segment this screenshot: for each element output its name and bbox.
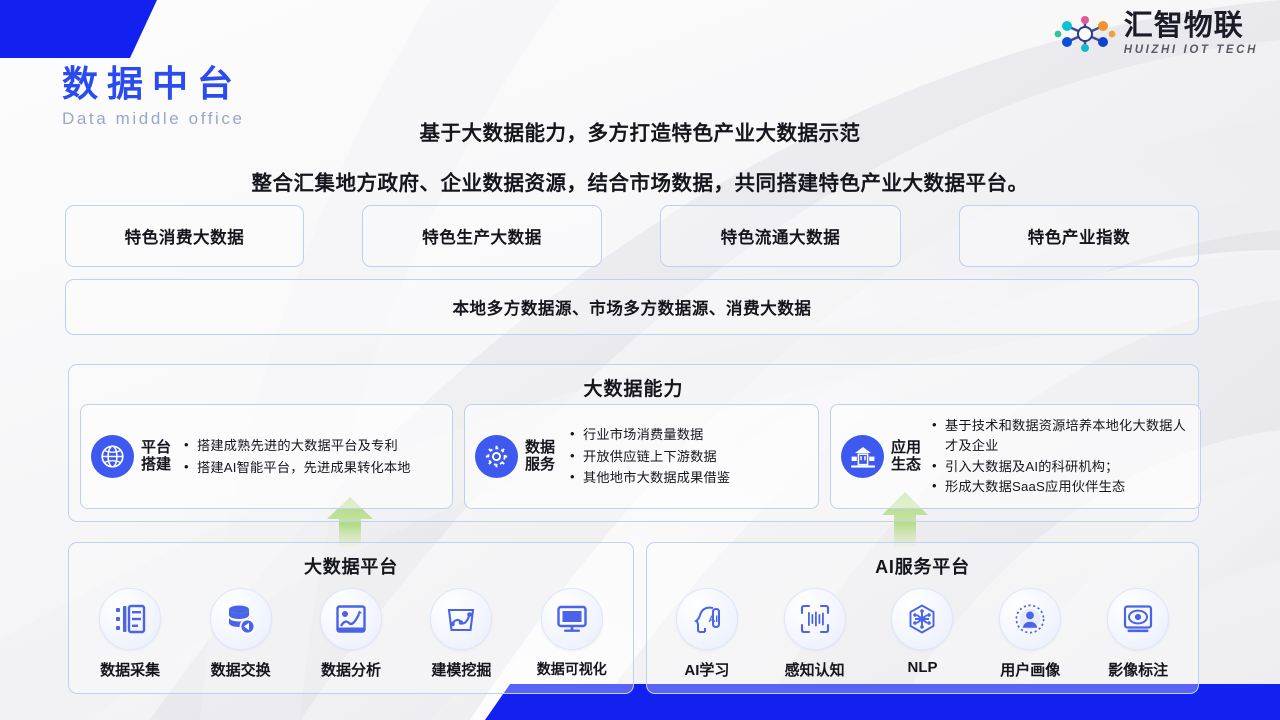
platform-item-ai-learning[interactable]: AI AI学习: [656, 588, 758, 680]
model-mining-icon: [445, 603, 477, 635]
capability-bullet-list: 搭建成熟先进的大数据平台及专利 搭建AI智能平台，先进成果转化本地: [179, 435, 411, 478]
platform-item-nlp[interactable]: NLP: [871, 588, 973, 680]
platform-item-row: 数据采集 数据交换: [69, 588, 633, 680]
data-collection-icon-wrap: [99, 588, 161, 650]
platform-item-label: 数据交换: [211, 659, 271, 680]
category-box-industry-index[interactable]: 特色产业指数: [959, 205, 1199, 267]
capability-bullet: 形成大数据SaaS应用伙伴生态: [945, 477, 1194, 497]
category-box-production[interactable]: 特色生产大数据: [362, 205, 602, 267]
headline-secondary: 整合汇集地方政府、企业数据资源，结合市场数据，共同搭建特色产业大数据平台。: [0, 166, 1280, 196]
scan-perception-icon: [799, 603, 831, 635]
brand-logo: 汇智物联 HUIZHI IOT TECH: [1054, 12, 1258, 57]
platform-item-label: 用户画像: [1000, 659, 1060, 680]
ai-head-icon-wrap: AI: [676, 588, 738, 650]
data-source-bar: 本地多方数据源、市场多方数据源、消费大数据: [65, 279, 1199, 335]
top-left-accent-shape: [0, 0, 170, 58]
slide-root: 汇智物联 HUIZHI IOT TECH 数据中台 Data middle of…: [0, 0, 1280, 720]
platform-item-label: 数据可视化: [537, 659, 607, 679]
capability-name-line2: 搭建: [141, 457, 171, 474]
capability-card-platform[interactable]: 平台 搭建 搭建成熟先进的大数据平台及专利 搭建AI智能平台，先进成果转化本地: [80, 404, 453, 509]
nlp-network-icon-wrap: [891, 588, 953, 650]
category-box-circulation[interactable]: 特色流通大数据: [660, 205, 901, 267]
platform-item-data-visualization[interactable]: 数据可视化: [521, 588, 623, 680]
capability-bullet: 开放供应链上下游数据: [583, 446, 730, 467]
monitor-visualization-icon: [556, 603, 588, 635]
capability-bullet-list: 行业市场消费量数据 开放供应链上下游数据 其他地市大数据成果借鉴: [565, 424, 730, 488]
platform-item-user-profile[interactable]: 用户画像: [979, 588, 1081, 680]
capability-card-name: 应用 生态: [891, 440, 921, 474]
capability-bullet: 基于技术和数据资源培养本地化大数据人才及企业: [945, 416, 1194, 457]
bank-building-icon-wrap: [841, 435, 884, 478]
data-collection-icon: [114, 603, 146, 635]
capability-name-line1: 应用: [891, 440, 921, 457]
platform-item-label: 建模挖掘: [431, 659, 491, 680]
scan-perception-icon-wrap: [784, 588, 846, 650]
headline-primary: 基于大数据能力，多方打造特色产业大数据示范: [0, 116, 1280, 146]
user-profile-icon-wrap: [999, 588, 1061, 650]
platform-item-data-collection[interactable]: 数据采集: [79, 588, 181, 680]
platform-item-label: 数据分析: [321, 659, 381, 680]
platform-item-row: AI AI学习: [647, 588, 1198, 680]
platform-item-label: NLP: [907, 659, 937, 676]
monitor-visualization-icon-wrap: [541, 588, 603, 650]
svg-text:AI: AI: [708, 614, 718, 625]
category-row: 特色消费大数据 特色生产大数据 特色流通大数据 特色产业指数: [65, 205, 1199, 267]
platform-item-label: AI学习: [684, 659, 729, 680]
capability-card-name: 平台 搭建: [141, 440, 171, 474]
capability-card-data-service[interactable]: 数据 服务 行业市场消费量数据 开放供应链上下游数据 其他地市大数据成果借鉴: [464, 404, 819, 509]
category-box-consumption[interactable]: 特色消费大数据: [65, 205, 304, 267]
platform-item-image-annotation[interactable]: 影像标注: [1087, 588, 1189, 680]
platform-title: AI服务平台: [647, 553, 1198, 579]
chart-analysis-icon: [335, 603, 367, 635]
capability-section-title: 大数据能力: [69, 374, 1198, 401]
platform-panel-ai: AI服务平台 AI AI学习: [646, 542, 1199, 694]
platform-item-label: 感知认知: [785, 659, 845, 680]
platform-title: 大数据平台: [69, 553, 633, 579]
platform-item-data-exchange[interactable]: 数据交换: [190, 588, 292, 680]
user-profile-icon: [1014, 603, 1046, 635]
globe-icon: [100, 444, 125, 469]
capability-bullet: 其他地市大数据成果借鉴: [583, 467, 730, 488]
gear-icon: [484, 444, 509, 469]
capability-card-application-ecosystem[interactable]: 应用 生态 基于技术和数据资源培养本地化大数据人才及企业 引入大数据及AI的科研…: [830, 404, 1201, 509]
capability-bullet: 搭建AI智能平台，先进成果转化本地: [197, 457, 411, 478]
bank-building-icon: [850, 445, 876, 469]
capability-bullet: 搭建成熟先进的大数据平台及专利: [197, 435, 411, 456]
headline-block: 基于大数据能力，多方打造特色产业大数据示范 整合汇集地方政府、企业数据资源，结合…: [0, 116, 1280, 196]
molecule-network-icon: [1054, 14, 1116, 54]
capability-name-line2: 服务: [525, 457, 555, 474]
platform-item-model-mining[interactable]: 建模挖掘: [410, 588, 512, 680]
capability-section: 大数据能力 平台 搭建 搭建成熟先: [68, 364, 1199, 522]
platform-item-label: 影像标注: [1108, 659, 1168, 680]
platform-item-data-analysis[interactable]: 数据分析: [300, 588, 402, 680]
chart-analysis-icon-wrap: [320, 588, 382, 650]
database-exchange-icon-wrap: [210, 588, 272, 650]
database-exchange-icon: [225, 603, 257, 635]
capability-name-line1: 平台: [141, 440, 171, 457]
capability-bullet-list: 基于技术和数据资源培养本地化大数据人才及企业 引入大数据及AI的科研机构； 形成…: [927, 416, 1194, 498]
capability-card-row: 平台 搭建 搭建成熟先进的大数据平台及专利 搭建AI智能平台，先进成果转化本地: [80, 404, 1201, 509]
platform-item-perception[interactable]: 感知认知: [764, 588, 866, 680]
platform-panel-bigdata: 大数据平台: [68, 542, 634, 694]
capability-bullet: 引入大数据及AI的科研机构；: [945, 457, 1194, 477]
nlp-network-icon: [906, 603, 938, 635]
capability-name-line1: 数据: [525, 440, 555, 457]
image-annotation-icon: [1122, 603, 1154, 635]
model-mining-icon-wrap: [430, 588, 492, 650]
globe-icon-wrap: [91, 435, 134, 478]
capability-bullet: 行业市场消费量数据: [583, 424, 730, 445]
image-annotation-icon-wrap: [1107, 588, 1169, 650]
gear-icon-wrap: [475, 435, 518, 478]
page-title: 数据中台: [62, 66, 245, 102]
ai-head-icon: AI: [691, 603, 723, 635]
capability-name-line2: 生态: [891, 457, 921, 474]
logo-name-en: HUIZHI IOT TECH: [1124, 45, 1258, 57]
capability-card-name: 数据 服务: [525, 440, 555, 474]
platform-item-label: 数据采集: [100, 659, 160, 680]
logo-name-cn: 汇智物联: [1124, 12, 1244, 41]
